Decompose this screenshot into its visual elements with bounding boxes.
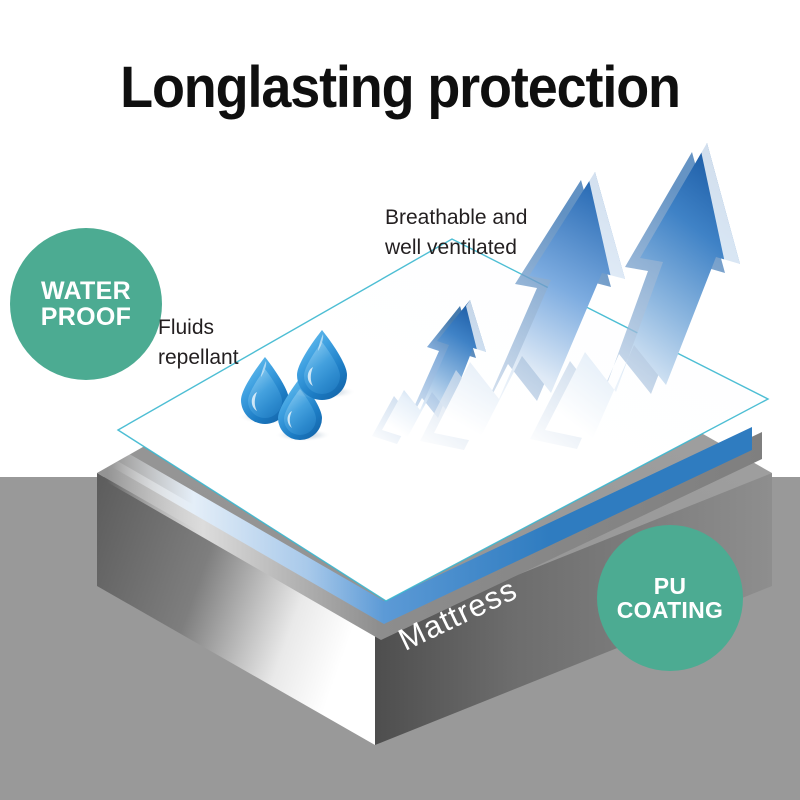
- badge-pu-coating: PU COATING: [597, 525, 743, 671]
- callout-breathable-line2: well ventilated: [385, 233, 527, 263]
- callout-breathable: Breathable and well ventilated: [385, 203, 527, 263]
- badge-waterproof: WATER PROOF: [10, 228, 162, 380]
- callout-fluids-line1: Fluids: [158, 313, 239, 343]
- page-title: Longlasting protection: [28, 54, 772, 121]
- badge-waterproof-line1: WATER: [41, 278, 131, 305]
- callout-fluids-repellant: Fluids repellant: [158, 313, 239, 373]
- badge-pu-coating-line2: COATING: [617, 598, 723, 622]
- callout-fluids-line2: repellant: [158, 343, 239, 373]
- illustration-canvas: Longlasting protection WATER PROOF PU CO…: [0, 0, 800, 800]
- badge-waterproof-line2: PROOF: [41, 304, 131, 331]
- callout-breathable-line1: Breathable and: [385, 203, 527, 233]
- badge-pu-coating-line1: PU: [654, 574, 687, 598]
